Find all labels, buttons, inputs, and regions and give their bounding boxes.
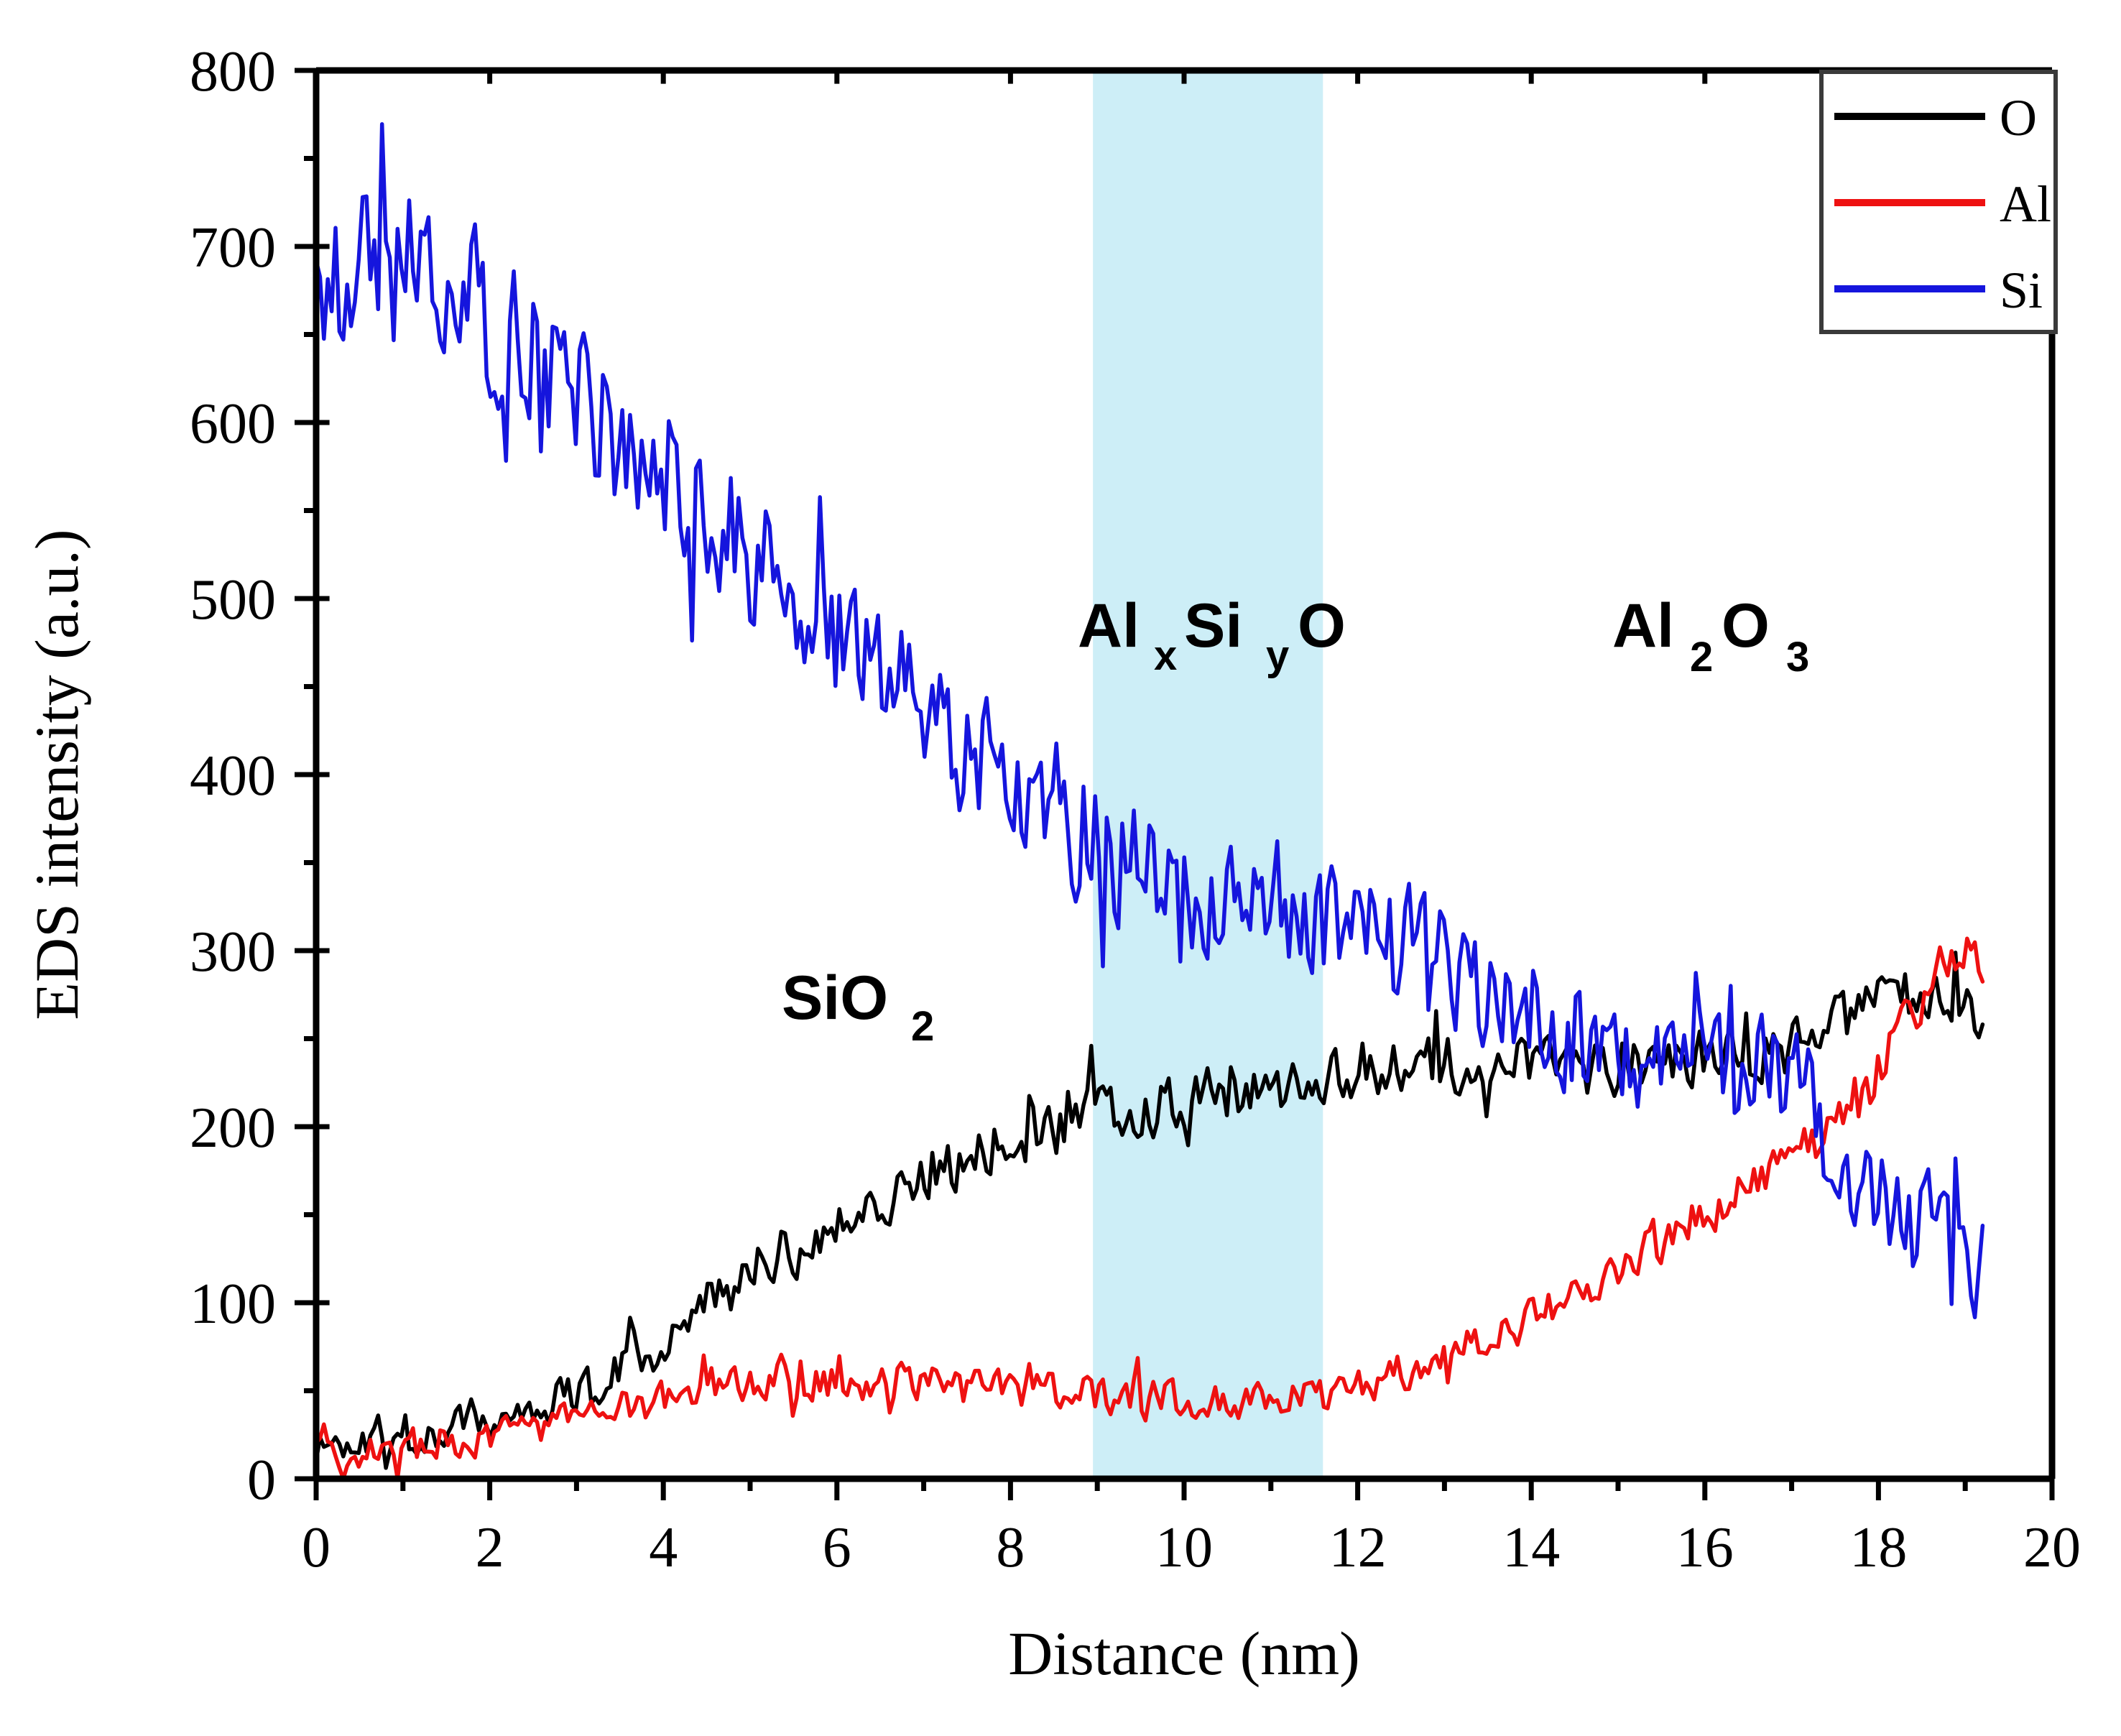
annotation-al2o3-o: O [1722, 591, 1770, 660]
y-tick-label: 400 [190, 744, 276, 808]
chart-legend[interactable]: OAlSi [1821, 72, 2056, 332]
shaded-interlayer-region [1093, 70, 1323, 1479]
y-axis-tick-labels: 0100200300400500600700800 [190, 40, 276, 1512]
x-tick-label: 16 [1676, 1516, 1734, 1579]
x-axis-tick-labels: 02468101214161820 [302, 1516, 2081, 1579]
eds-line-profile-figure: 02468101214161820 0100200300400500600700… [0, 0, 2121, 1736]
annotation-al2o3-subscript-2: 2 [1690, 634, 1713, 680]
x-tick-label: 12 [1329, 1516, 1387, 1579]
x-tick-label: 2 [476, 1516, 504, 1579]
x-tick-label: 14 [1502, 1516, 1560, 1579]
annotation-sio2-base: SiO [782, 964, 888, 1033]
y-tick-label: 0 [247, 1449, 276, 1512]
legend-label-al: Al [2000, 175, 2051, 233]
annotation-alxsiyo-o: O [1298, 591, 1346, 660]
chart-canvas: 02468101214161820 0100200300400500600700… [0, 0, 2121, 1736]
y-tick-label: 300 [190, 920, 276, 984]
annotation-alxsiyo-subscript-y: y [1266, 632, 1289, 679]
annotation-al2o3: Al 2 O 3 [1612, 591, 1809, 680]
y-tick-label: 800 [190, 40, 276, 103]
y-tick-label: 100 [190, 1273, 276, 1336]
y-axis-title: EDS intensity (a.u.) [22, 529, 91, 1020]
x-tick-label: 20 [2023, 1516, 2081, 1579]
annotation-sio2: SiO 2 [782, 964, 934, 1050]
annotation-alxsiyo-al: Al [1078, 591, 1140, 660]
x-tick-label: 4 [649, 1516, 678, 1579]
annotation-alxsiyo-si: Si [1184, 591, 1242, 660]
y-tick-label: 600 [190, 392, 276, 456]
x-tick-label: 18 [1849, 1516, 1907, 1579]
annotation-alxsiyo-subscript-x: x [1154, 632, 1177, 679]
y-tick-label: 200 [190, 1096, 276, 1160]
legend-label-si: Si [2000, 262, 2043, 319]
y-tick-label: 700 [190, 216, 276, 280]
legend-label-o: O [2000, 89, 2037, 147]
x-tick-label: 0 [302, 1516, 331, 1579]
y-tick-label: 500 [190, 568, 276, 632]
x-tick-label: 10 [1155, 1516, 1213, 1579]
annotation-sio2-subscript: 2 [911, 1003, 934, 1050]
annotation-al2o3-al: Al [1612, 591, 1674, 660]
x-axis-title: Distance (nm) [1008, 1619, 1360, 1688]
annotation-al2o3-subscript-3: 3 [1786, 634, 1809, 680]
x-tick-label: 6 [823, 1516, 851, 1579]
x-tick-label: 8 [996, 1516, 1025, 1579]
